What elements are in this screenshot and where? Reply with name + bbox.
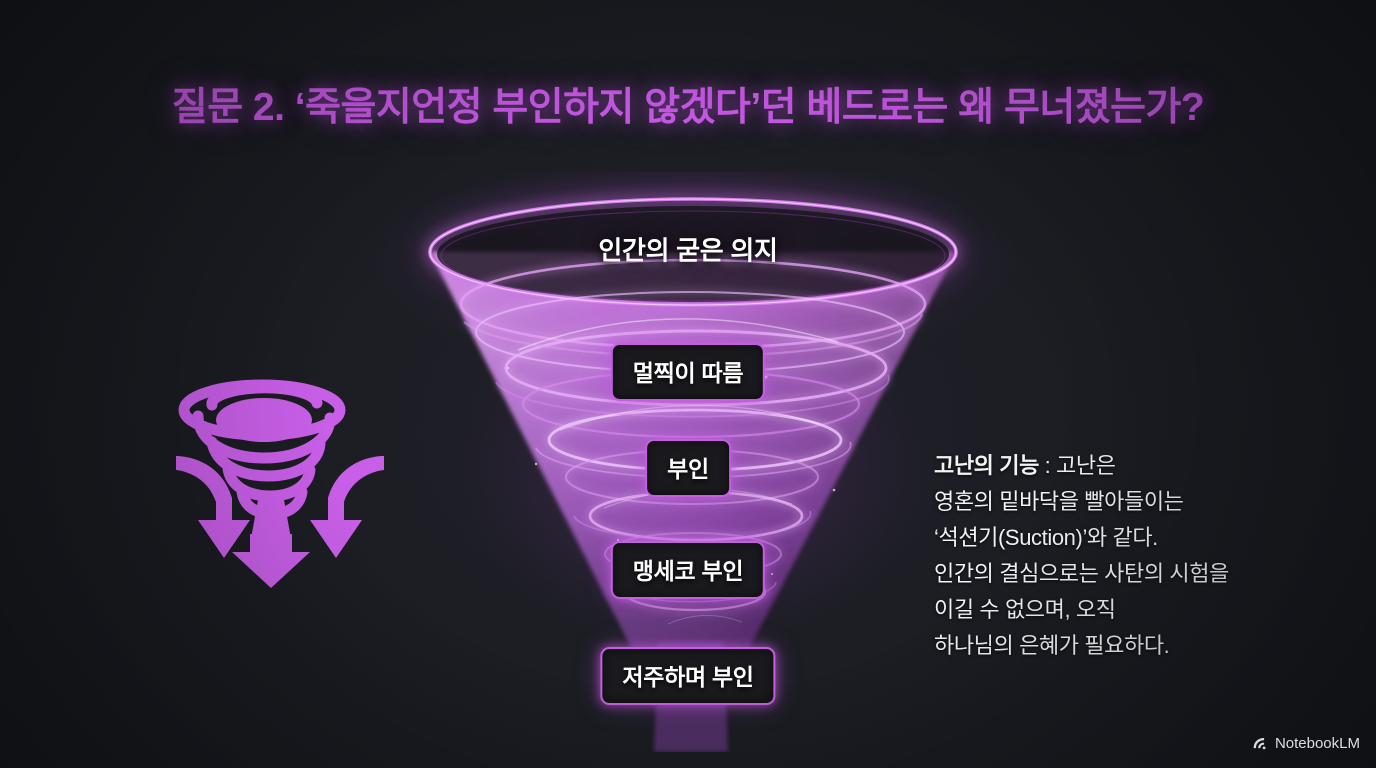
explanation-line-3: ‘석션기(Suction)’와 같다. <box>934 520 1354 556</box>
notebooklm-logo-icon <box>1251 735 1268 752</box>
page-title: 질문 2. ‘죽을지언정 부인하지 않겠다’던 베드로는 왜 무너졌는가? <box>0 76 1376 132</box>
notebooklm-label: NotebookLM <box>1275 735 1360 752</box>
funnel-stage-label-2: 멀찍이 따름 <box>611 343 765 401</box>
funnel-stage-label-5: 저주하며 부인 <box>600 647 775 705</box>
explanation-paragraph: 고난의 기능 : 고난은 영혼의 밑바닥을 빨아들이는 ‘석션기(Suction… <box>934 448 1354 664</box>
explanation-line-6: 하나님의 은혜가 필요하다. <box>934 628 1354 664</box>
tornado-icon <box>172 372 388 588</box>
explanation-line-1: 고난의 기능 : 고난은 <box>934 448 1354 484</box>
explanation-lead: 고난의 기능 <box>934 453 1039 478</box>
funnel-stage-label-3: 부인 <box>645 439 731 497</box>
explanation-line-2: 영혼의 밑바닥을 빨아들이는 <box>934 484 1354 520</box>
slide-canvas: 인간의 굳은 의지 멀찍이 따름 부인 맹세코 부인 저주하며 부인 질문 2.… <box>0 0 1376 768</box>
explanation-lead-rest: : 고난은 <box>1039 453 1116 478</box>
funnel-stage-label-4: 맹세코 부인 <box>611 541 765 599</box>
notebooklm-watermark: NotebookLM <box>1251 735 1360 752</box>
explanation-line-4: 인간의 결심으로는 사탄의 시험을 <box>934 556 1354 592</box>
explanation-line-5: 이길 수 없으며, 오직 <box>934 592 1354 628</box>
funnel-stage-label-1: 인간의 굳은 의지 <box>598 231 777 268</box>
